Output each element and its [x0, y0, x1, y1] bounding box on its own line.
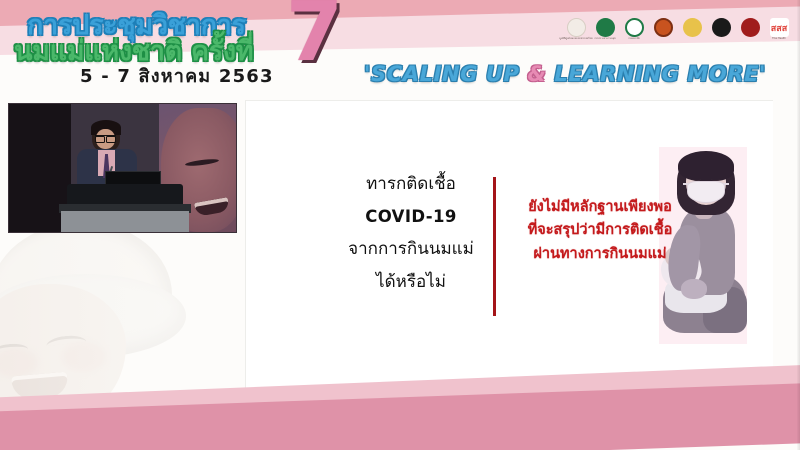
conference-date: 5 - 7 สิงหาคม 2563 [80, 61, 274, 90]
logo-royal-emblem [681, 18, 703, 44]
tagline-ampersand: & [528, 62, 547, 86]
logo-ministry-of-public-health: กระทรวงสาธารณสุข [594, 18, 616, 44]
tagline-suffix: LEARNING MORE' [546, 62, 766, 86]
organization-logos: มูลนิธิศูนย์นมแม่แห่งประเทศไทย กระทรวงสา… [565, 18, 790, 44]
conference-video-thumbnail[interactable] [8, 103, 237, 233]
answer-line-2: ที่จะสรุปว่ามีการติดเชื้อ [500, 219, 700, 242]
conference-tagline: 'SCALING UP & LEARNING MORE' [364, 62, 766, 86]
tagline-prefix: 'SCALING UP [364, 62, 528, 86]
answer-line-1: ยังไม่มีหลักฐานเพียงพอ [500, 196, 700, 219]
question-line-4: ได้หรือไม่ [332, 266, 490, 299]
red-vertical-divider [493, 177, 496, 316]
question-line-2: COVID-19 [332, 201, 490, 233]
question-line-1: ทารกติดเชื้อ [332, 168, 490, 201]
slide-question: ทารกติดเชื้อ COVID-19 จากการกินนมแม่ ได้… [332, 168, 490, 300]
question-line-3: จากการกินนมแม่ [332, 233, 490, 266]
logo-thaihealth-sss: สสส Thai Health [768, 18, 790, 44]
logo-royal-institution [652, 18, 674, 44]
answer-line-3: ผ่านทางการกินนมแม่ [500, 243, 700, 266]
logo-university [710, 18, 732, 44]
slide-answer: ยังไม่มีหลักฐานเพียงพอ ที่จะสรุปว่ามีการ… [500, 196, 700, 266]
speaker-glasses-icon [95, 135, 116, 140]
logo-department-of-health: กรมอนามัย [623, 18, 645, 44]
logo-breastfeeding-foundation: มูลนิธิศูนย์นมแม่แห่งประเทศไทย [565, 18, 587, 44]
presentation-slide: การประชุมวิชาการ นมแม่แห่งชาติ ครั้งที่ … [0, 0, 800, 450]
conference-header-banner: การประชุมวิชาการ นมแม่แห่งชาติ ครั้งที่ … [0, 0, 800, 100]
logo-royal-college [739, 18, 761, 44]
conference-edition-number: 7 [286, 0, 343, 74]
